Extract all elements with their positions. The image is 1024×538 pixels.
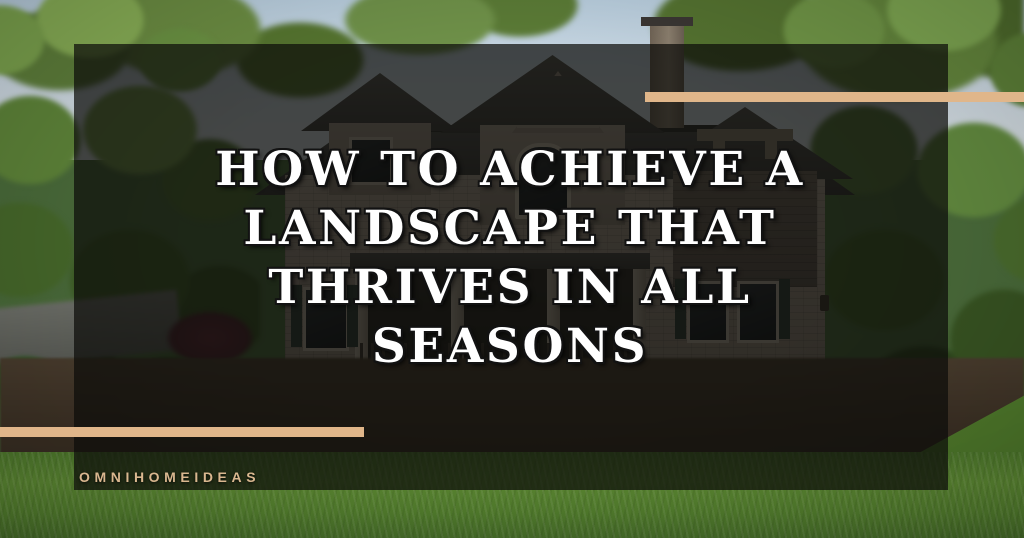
accent-bar-bottom-left	[0, 427, 364, 437]
title-line-1: HOW TO ACHIEVE A	[160, 140, 860, 199]
title-line-2: LANDSCAPE THAT	[160, 199, 860, 258]
title-block: HOW TO ACHIEVE A LANDSCAPE THAT THRIVES …	[160, 140, 860, 376]
featured-image-canvas: HOW TO ACHIEVE A LANDSCAPE THAT THRIVES …	[0, 0, 1024, 538]
accent-bar-top-right	[645, 92, 1024, 102]
title-line-3: THRIVES IN ALL	[160, 258, 860, 317]
brand-watermark: OMNIHOMEIDEAS	[79, 469, 260, 485]
title-line-4: SEASONS	[160, 317, 860, 376]
